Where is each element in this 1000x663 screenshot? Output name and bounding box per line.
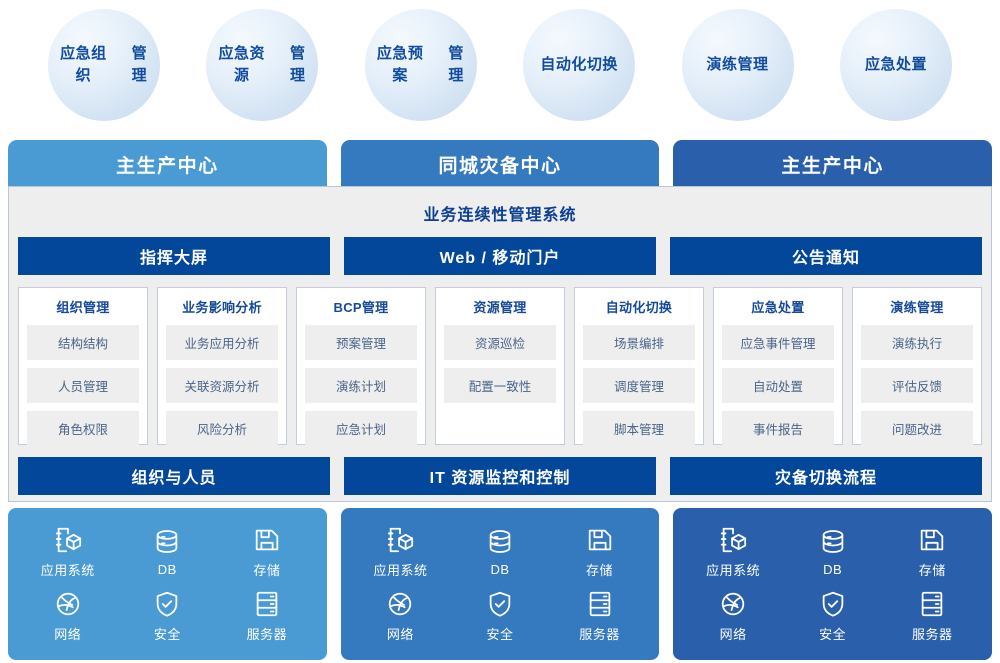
module-card-item[interactable]: 应急事件管理: [722, 325, 834, 360]
capability-circle[interactable]: 应急组织管理: [48, 9, 160, 121]
module-card: 业务影响分析业务应用分析关联资源分析风险分析: [157, 287, 287, 445]
infrastructure-item[interactable]: 存储: [585, 525, 615, 579]
infrastructure-item-label: DB: [823, 562, 842, 577]
module-card-item[interactable]: 演练计划: [305, 368, 417, 403]
module-card-item[interactable]: 风险分析: [166, 411, 278, 446]
security-shield-icon: [818, 589, 848, 619]
module-card-item[interactable]: 事件报告: [722, 411, 834, 446]
module-card-item[interactable]: 调度管理: [583, 368, 695, 403]
module-card-item[interactable]: 问题改进: [861, 411, 973, 446]
channel-bar[interactable]: Web / 移动门户: [344, 237, 656, 275]
module-card-item[interactable]: 预案管理: [305, 325, 417, 360]
page-title: 业务连续性管理系统: [9, 187, 991, 225]
infrastructure-panel: 应用系统DB存储网络安全服务器: [8, 508, 327, 660]
infrastructure-item-label: DB: [158, 562, 177, 577]
module-card-item[interactable]: 业务应用分析: [166, 325, 278, 360]
infrastructure-item[interactable]: 服务器: [579, 589, 620, 643]
server-icon: [252, 589, 282, 619]
channel-bar[interactable]: 公告通知: [670, 237, 982, 275]
app-system-icon: [53, 525, 83, 555]
infrastructure-item-label: 应用系统: [373, 560, 427, 579]
infrastructure-item[interactable]: 应用系统: [706, 525, 760, 579]
infrastructure-item[interactable]: DB: [152, 527, 182, 577]
module-card: 演练管理演练执行评估反馈问题改进: [852, 287, 982, 445]
module-card: 应急处置应急事件管理自动处置事件报告: [713, 287, 843, 445]
capability-circle-label: 应急处置: [859, 54, 933, 76]
infrastructure-item-label: 网络: [720, 624, 747, 643]
module-card-title: 资源管理: [444, 297, 556, 316]
storage-icon: [585, 525, 615, 555]
module-card-item[interactable]: 结构结构: [27, 325, 139, 360]
infrastructure-item-label: 安全: [154, 624, 181, 643]
process-bar[interactable]: IT 资源监控和控制: [344, 457, 656, 495]
module-card-title: 组织管理: [27, 297, 139, 316]
database-icon: [152, 527, 182, 557]
infrastructure-item-label: 安全: [486, 624, 513, 643]
capability-circle[interactable]: 应急预案管理: [365, 9, 477, 121]
module-card-title: 演练管理: [861, 297, 973, 316]
capability-circle-label: 自动化切换: [534, 54, 624, 76]
infrastructure-item-label: 存储: [919, 560, 946, 579]
infrastructure-item-label: 网络: [54, 624, 81, 643]
infrastructure-item-label: 服务器: [579, 624, 620, 643]
process-bar[interactable]: 灾备切换流程: [670, 457, 982, 495]
infrastructure-item[interactable]: 网络: [385, 589, 415, 643]
infrastructure-icon-panels: 应用系统DB存储网络安全服务器应用系统DB存储网络安全服务器应用系统DB存储网络…: [8, 508, 992, 660]
module-card-item[interactable]: 自动处置: [722, 368, 834, 403]
infrastructure-item[interactable]: 应用系统: [41, 525, 95, 579]
infrastructure-item[interactable]: 网络: [53, 589, 83, 643]
channel-bar[interactable]: 指挥大屏: [18, 237, 330, 275]
module-card-item[interactable]: 资源巡检: [444, 325, 556, 360]
module-card-item[interactable]: 应急计划: [305, 411, 417, 446]
datacenter-tab[interactable]: 主生产中心: [8, 140, 327, 188]
infrastructure-item-label: 应用系统: [41, 560, 95, 579]
capability-circle-label-2: 管理: [277, 43, 318, 87]
module-card-item[interactable]: 配置一致性: [444, 368, 556, 403]
infrastructure-item[interactable]: DB: [818, 527, 848, 577]
security-shield-icon: [485, 589, 515, 619]
module-card-item[interactable]: 人员管理: [27, 368, 139, 403]
capability-circle-label-2: 管理: [435, 43, 476, 87]
capability-circle-label: 演练管理: [701, 54, 775, 76]
infrastructure-item-label: 应用系统: [706, 560, 760, 579]
module-card-item[interactable]: 场景编排: [583, 325, 695, 360]
module-card: 资源管理资源巡检配置一致性: [435, 287, 565, 445]
module-card-title: 自动化切换: [583, 297, 695, 316]
capability-circle-label: 应急资源: [206, 43, 277, 87]
security-shield-icon: [152, 589, 182, 619]
module-card-item[interactable]: 角色权限: [27, 411, 139, 446]
module-card-item[interactable]: 脚本管理: [583, 411, 695, 446]
infrastructure-item-label: 服务器: [247, 624, 288, 643]
network-icon: [718, 589, 748, 619]
infrastructure-panel: 应用系统DB存储网络安全服务器: [341, 508, 660, 660]
channel-bar-row: 指挥大屏Web / 移动门户公告通知: [9, 237, 991, 275]
capability-circle[interactable]: 演练管理: [682, 9, 794, 121]
module-card-item[interactable]: 评估反馈: [861, 368, 973, 403]
capability-circle[interactable]: 应急资源管理: [206, 9, 318, 121]
app-system-icon: [385, 525, 415, 555]
capability-circle-label: 应急组织: [48, 43, 119, 87]
network-icon: [385, 589, 415, 619]
infrastructure-item[interactable]: DB: [485, 527, 515, 577]
capability-circle-label-2: 管理: [119, 43, 160, 87]
infrastructure-item[interactable]: 安全: [152, 589, 182, 643]
infrastructure-item-label: 网络: [387, 624, 414, 643]
infrastructure-item-label: 安全: [819, 624, 846, 643]
app-system-icon: [718, 525, 748, 555]
module-card-title: 业务影响分析: [166, 297, 278, 316]
infrastructure-item-label: 存储: [253, 560, 280, 579]
process-bar-row: 组织与人员IT 资源监控和控制灾备切换流程: [9, 457, 991, 495]
infrastructure-item[interactable]: 网络: [718, 589, 748, 643]
capability-circle-label: 应急预案: [365, 43, 436, 87]
storage-icon: [252, 525, 282, 555]
emergency-capability-circles: 应急组织管理应急资源管理应急预案管理自动化切换演练管理应急处置: [0, 0, 1000, 130]
module-card-title: 应急处置: [722, 297, 834, 316]
infrastructure-item-label: DB: [490, 562, 509, 577]
infrastructure-item[interactable]: 存储: [917, 525, 947, 579]
datacenter-tab[interactable]: 主生产中心: [673, 140, 992, 188]
server-icon: [585, 589, 615, 619]
capability-circle[interactable]: 应急处置: [840, 9, 952, 121]
datacenter-tab[interactable]: 同城灾备中心: [341, 140, 660, 188]
infrastructure-item[interactable]: 服务器: [912, 589, 953, 643]
infrastructure-item-label: 存储: [586, 560, 613, 579]
infrastructure-item[interactable]: 存储: [252, 525, 282, 579]
module-card: 自动化切换场景编排调度管理脚本管理: [574, 287, 704, 445]
server-icon: [917, 589, 947, 619]
module-card-item[interactable]: 演练执行: [861, 325, 973, 360]
datacenter-header-tabs: 主生产中心同城灾备中心主生产中心: [8, 140, 992, 188]
infrastructure-item[interactable]: 服务器: [247, 589, 288, 643]
infrastructure-item[interactable]: 安全: [485, 589, 515, 643]
module-card: 组织管理结构结构人员管理角色权限: [18, 287, 148, 445]
infrastructure-panel: 应用系统DB存储网络安全服务器: [673, 508, 992, 660]
storage-icon: [917, 525, 947, 555]
module-card: BCP管理预案管理演练计划应急计划: [296, 287, 426, 445]
capability-circle[interactable]: 自动化切换: [523, 9, 635, 121]
network-icon: [53, 589, 83, 619]
module-card-title: BCP管理: [305, 297, 417, 316]
module-cards-row: 组织管理结构结构人员管理角色权限业务影响分析业务应用分析关联资源分析风险分析BC…: [9, 287, 991, 445]
process-bar[interactable]: 组织与人员: [18, 457, 330, 495]
module-card-item[interactable]: 关联资源分析: [166, 368, 278, 403]
database-icon: [485, 527, 515, 557]
infrastructure-item[interactable]: 应用系统: [373, 525, 427, 579]
database-icon: [818, 527, 848, 557]
infrastructure-item[interactable]: 安全: [818, 589, 848, 643]
infrastructure-item-label: 服务器: [912, 624, 953, 643]
bcm-system-panel: 业务连续性管理系统 指挥大屏Web / 移动门户公告通知 组织管理结构结构人员管…: [8, 186, 992, 502]
